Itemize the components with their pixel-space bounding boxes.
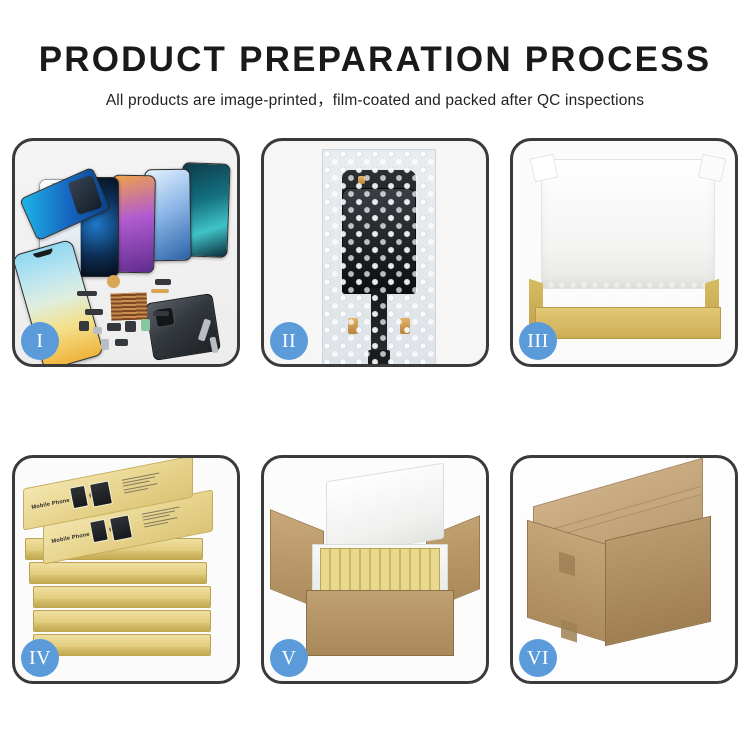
carton-front-panel	[306, 590, 454, 656]
header: PRODUCT PREPARATION PROCESS All products…	[0, 0, 750, 110]
gold-connector-tab	[358, 176, 365, 184]
spare-part	[155, 279, 171, 285]
retail-box	[33, 634, 211, 656]
phone-back-housing	[145, 293, 221, 361]
spare-part	[141, 319, 150, 331]
step-card-iii: III	[510, 138, 738, 367]
spare-part	[101, 339, 109, 350]
page-subtitle: All products are image-printed，film-coat…	[0, 79, 750, 110]
step-card-i: I	[12, 138, 240, 367]
step-card-iv: Mobile Phone Spare Parts Mobile Phone Sp…	[12, 455, 240, 684]
step-badge-iii: III	[519, 322, 557, 360]
screen-assembly	[342, 170, 416, 342]
bubble-wrapped-units	[547, 281, 707, 309]
screen-panel	[342, 188, 416, 294]
retail-box-phone-image	[109, 514, 133, 541]
process-steps-grid: I II	[12, 138, 738, 684]
step-badge-i: I	[21, 322, 59, 360]
retail-box	[33, 586, 211, 608]
yellow-box-front	[535, 307, 721, 339]
flex-cable	[371, 288, 387, 364]
step-card-ii: II	[261, 138, 489, 367]
spare-part	[125, 321, 136, 332]
spare-part	[107, 323, 121, 331]
spare-part	[85, 309, 103, 315]
step-badge-iv: IV	[21, 639, 59, 677]
step-badge-vi: VI	[519, 639, 557, 677]
spare-part	[77, 291, 97, 296]
retail-box-phone-image	[89, 480, 113, 507]
spare-part	[153, 311, 169, 316]
retail-box	[29, 562, 207, 584]
retail-box	[33, 610, 211, 632]
spare-part	[107, 275, 120, 288]
foam-sheet	[541, 159, 715, 289]
packed-yellow-boxes	[320, 548, 440, 592]
step-card-vi: VI	[510, 455, 738, 684]
gold-connector-tab	[400, 318, 410, 334]
product-preparation-infographic: PRODUCT PREPARATION PROCESS All products…	[0, 0, 750, 750]
gold-connector-tab	[348, 318, 358, 334]
spare-part	[151, 289, 169, 293]
carton-tape-tab	[561, 620, 577, 643]
spare-part	[79, 321, 89, 331]
step-badge-ii: II	[270, 322, 308, 360]
step-badge-v: V	[270, 639, 308, 677]
spare-part	[93, 327, 102, 334]
logic-board-chip	[111, 292, 148, 320]
page-title: PRODUCT PREPARATION PROCESS	[0, 0, 750, 79]
step-card-v: V	[261, 455, 489, 684]
spare-part	[115, 339, 128, 346]
bubble-wrap-bag	[322, 149, 436, 364]
